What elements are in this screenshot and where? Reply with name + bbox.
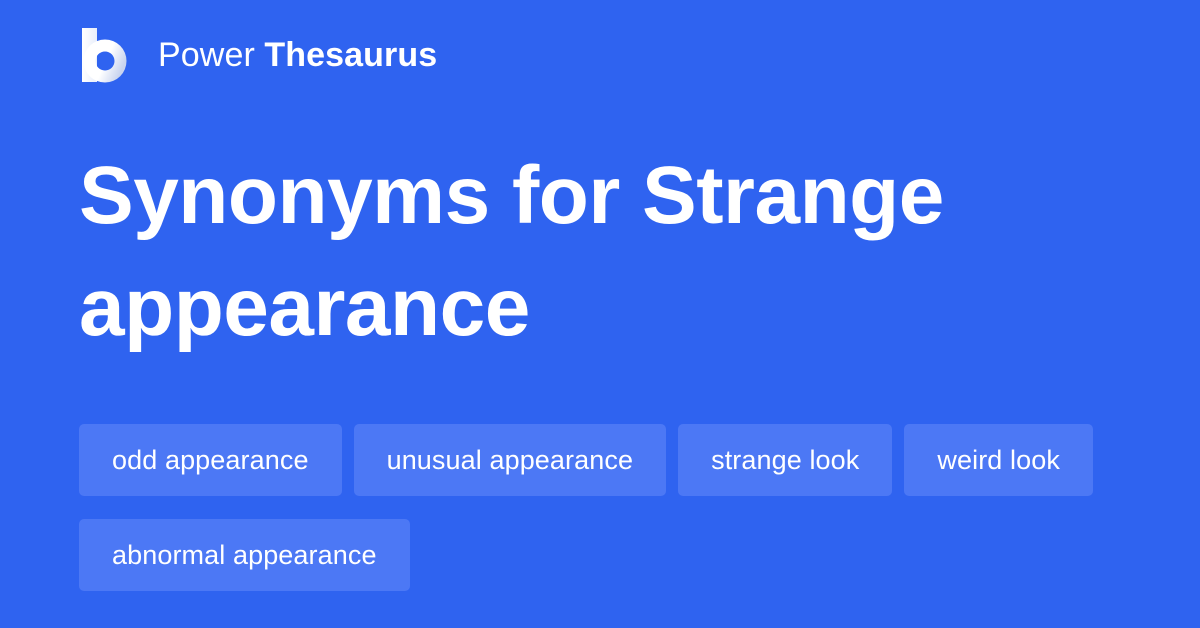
power-thesaurus-b-logo-icon [79,27,131,83]
synonym-chip[interactable]: abnormal appearance [79,519,410,591]
page-title-line-2: appearance [79,262,530,353]
brand-name-bold: Thesaurus [264,35,437,75]
synonym-chip[interactable]: unusual appearance [354,424,667,496]
brand-name-light: Power [158,35,255,75]
synonym-chip[interactable]: strange look [678,424,892,496]
page-title-line-1: Synonyms for Strange [79,150,944,241]
synonym-chip[interactable]: weird look [904,424,1093,496]
brand-header[interactable]: Power Thesaurus [79,27,437,83]
brand-wordmark: Power Thesaurus [158,35,437,75]
synonym-chip[interactable]: odd appearance [79,424,342,496]
page-title: Synonyms for Strange appearance [79,140,1129,364]
share-card: Power Thesaurus Synonyms for Strange app… [0,0,1200,628]
synonym-chip-list: odd appearance unusual appearance strang… [79,424,1129,591]
